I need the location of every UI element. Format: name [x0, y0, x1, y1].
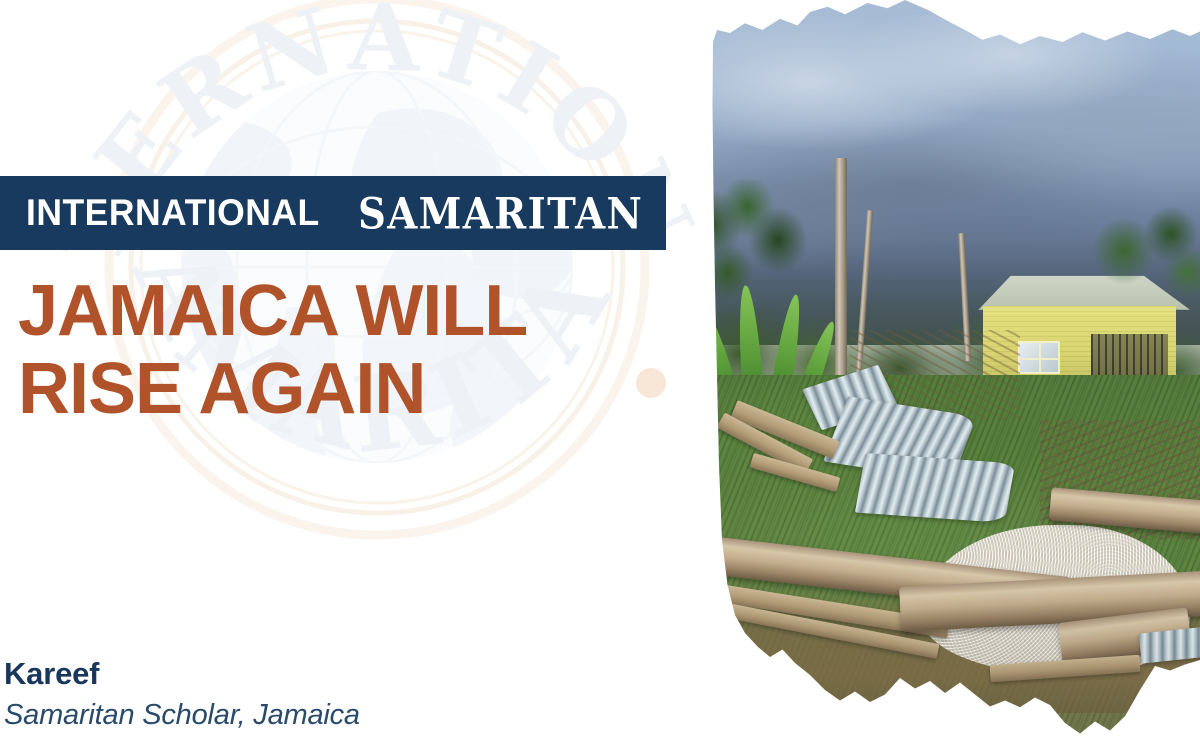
attribution-block: Kareef Samaritan Scholar, Jamaica: [4, 654, 604, 736]
headline: JAMAICA WILL RISE AGAIN: [18, 272, 678, 428]
photo-color-grade: [700, 0, 1200, 750]
photo-broken-trunk: [708, 315, 716, 428]
attribution-role: Samaritan Scholar, Jamaica: [4, 694, 604, 736]
photo-panel: [700, 0, 1200, 750]
text-column: INTERNATIONAL SAMARITAN JAMAICA WILL RIS…: [0, 0, 700, 750]
brand-banner: INTERNATIONAL SAMARITAN: [0, 176, 666, 250]
photo-torn-edge-mask: [700, 0, 1200, 750]
attribution-name: Kareef: [4, 654, 604, 694]
poster-canvas: INTERNATIONAL SAMARITAN INTERNATIONAL SA…: [0, 0, 1200, 750]
brand-word-international: INTERNATIONAL: [26, 192, 320, 234]
brand-word-samaritan: SAMARITAN: [358, 188, 643, 238]
headline-line-1: JAMAICA WILL: [18, 272, 678, 350]
headline-line-2: RISE AGAIN: [18, 350, 678, 428]
